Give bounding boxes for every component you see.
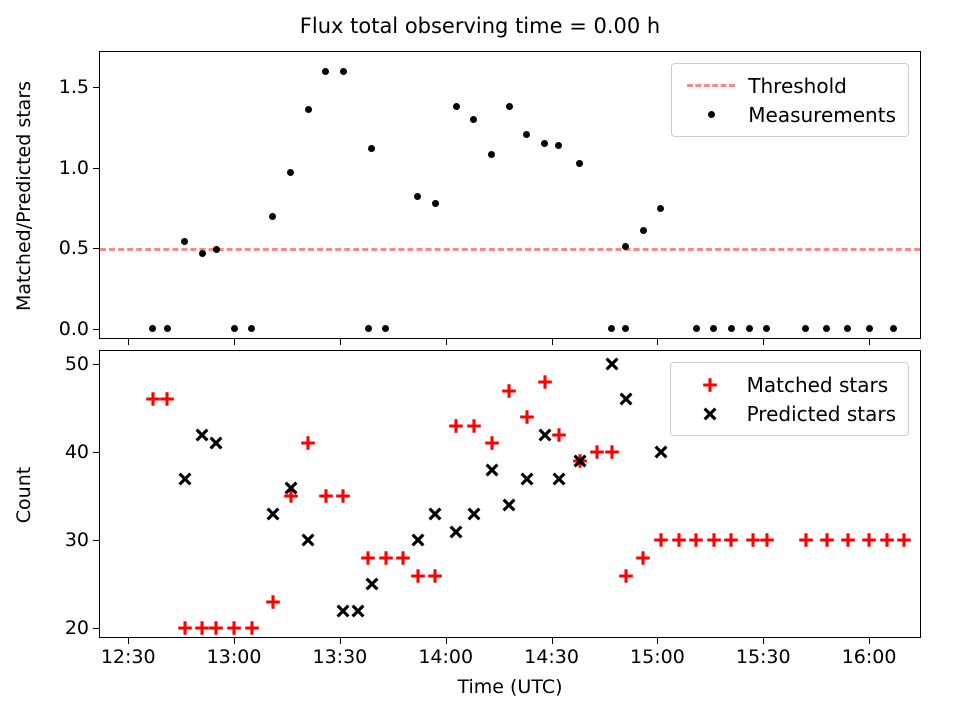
measurement-point — [657, 205, 664, 212]
cross-marker-icon — [681, 405, 739, 423]
x-tick-label: 13:30 — [313, 646, 368, 668]
figure-title: Flux total observing time = 0.00 h — [0, 14, 960, 38]
measurement-point — [555, 142, 562, 149]
measurement-point — [728, 325, 735, 332]
measurement-point — [432, 200, 439, 207]
bottom-legend-label: Matched stars — [739, 373, 889, 397]
threshold-line — [100, 248, 920, 251]
x-tick-mark — [234, 338, 235, 345]
top-legend-label: Threshold — [740, 74, 847, 98]
matched-star-point — [670, 531, 688, 549]
bottom-panel-axes: Matched starsPredicted stars 2030405012:… — [99, 350, 921, 638]
matched-star-point — [617, 567, 635, 585]
matched-star-point — [705, 531, 723, 549]
y-axis-label: Matched/Predicted stars — [13, 81, 35, 311]
predicted-star-point — [500, 496, 518, 514]
predicted-star-point — [617, 390, 635, 408]
measurement-point — [382, 325, 389, 332]
measurement-point — [523, 131, 530, 138]
matched-star-point — [895, 531, 913, 549]
x-tick-mark — [869, 338, 870, 345]
predicted-star-point — [282, 479, 300, 497]
y-tick-mark — [93, 364, 100, 365]
predicted-star-point — [536, 426, 554, 444]
measurement-point — [231, 325, 238, 332]
measurement-point — [340, 68, 347, 75]
measurement-point — [844, 325, 851, 332]
predicted-star-point — [550, 470, 568, 488]
matched-star-point — [158, 390, 176, 408]
predicted-star-point — [483, 461, 501, 479]
measurement-point — [488, 151, 495, 158]
bottom-legend-label: Predicted stars — [739, 402, 896, 426]
matched-star-point — [652, 531, 670, 549]
measurement-point — [269, 213, 276, 220]
measurement-point — [414, 193, 421, 200]
predicted-star-point — [603, 355, 621, 373]
matched-star-point — [426, 567, 444, 585]
x-axis-label: Time (UTC) — [99, 676, 921, 698]
measurement-point — [453, 103, 460, 110]
measurement-point — [763, 325, 770, 332]
measurement-point — [287, 169, 294, 176]
matched-star-point — [394, 549, 412, 567]
y-tick-mark — [93, 248, 100, 249]
measurement-point — [823, 325, 830, 332]
matched-star-point — [176, 619, 194, 637]
matched-star-point — [500, 382, 518, 400]
y-tick-mark — [93, 168, 100, 169]
measurement-point — [199, 250, 206, 257]
y-tick-label: 20 — [65, 617, 89, 639]
matched-star-point — [758, 531, 776, 549]
x-tick-label: 14:30 — [524, 646, 579, 668]
x-tick-mark — [552, 637, 553, 644]
top-legend-label: Measurements — [740, 103, 896, 127]
measurement-point — [506, 103, 513, 110]
measurement-point — [710, 325, 717, 332]
x-tick-label: 14:00 — [418, 646, 473, 668]
predicted-star-point — [571, 452, 589, 470]
matched-star-point — [818, 531, 836, 549]
predicted-star-point — [447, 523, 465, 541]
measurement-point — [248, 325, 255, 332]
measurement-point — [149, 325, 156, 332]
measurement-point — [213, 246, 220, 253]
y-tick-mark — [93, 329, 100, 330]
predicted-star-point — [363, 575, 381, 593]
x-tick-mark — [446, 338, 447, 345]
y-tick-label: 50 — [65, 353, 89, 375]
bottom-panel-legend: Matched starsPredicted stars — [670, 362, 909, 436]
measurement-point — [608, 325, 615, 332]
measurement-point — [693, 325, 700, 332]
measurement-point — [802, 325, 809, 332]
x-tick-label: 15:30 — [736, 646, 791, 668]
measurement-point — [181, 238, 188, 245]
x-tick-mark — [340, 338, 341, 345]
y-tick-mark — [93, 540, 100, 541]
top-panel-axes: ThresholdMeasurements 0.00.51.01.5Matche… — [99, 51, 921, 339]
dot-marker-icon — [682, 111, 740, 118]
x-tick-mark — [763, 637, 764, 644]
matched-star-point — [687, 531, 705, 549]
predicted-star-point — [409, 531, 427, 549]
matched-star-point — [207, 619, 225, 637]
x-tick-mark — [128, 338, 129, 345]
matched-star-point — [483, 434, 501, 452]
x-tick-label: 15:00 — [630, 646, 685, 668]
matched-star-point — [797, 531, 815, 549]
predicted-star-point — [349, 602, 367, 620]
y-tick-label: 1.0 — [59, 157, 89, 179]
measurement-point — [368, 145, 375, 152]
x-tick-mark — [869, 637, 870, 644]
measurement-point — [322, 68, 329, 75]
y-tick-mark — [93, 87, 100, 88]
matched-star-point — [634, 549, 652, 567]
y-tick-label: 30 — [65, 529, 89, 551]
y-tick-label: 40 — [65, 441, 89, 463]
measurement-point — [890, 325, 897, 332]
predicted-star-point — [465, 505, 483, 523]
matched-star-point — [264, 593, 282, 611]
measurement-point — [866, 325, 873, 332]
matched-star-point — [334, 487, 352, 505]
x-tick-mark — [234, 637, 235, 644]
y-tick-mark — [93, 628, 100, 629]
y-tick-label: 0.5 — [59, 237, 89, 259]
y-tick-label: 1.5 — [59, 76, 89, 98]
matched-star-point — [860, 531, 878, 549]
top-legend-entry: Measurements — [682, 100, 896, 129]
measurement-point — [305, 106, 312, 113]
predicted-star-point — [264, 505, 282, 523]
x-tick-mark — [340, 637, 341, 644]
matched-star-point — [465, 417, 483, 435]
matched-star-point — [839, 531, 857, 549]
y-tick-label: 0.0 — [59, 318, 89, 340]
measurement-point — [640, 227, 647, 234]
top-legend-entry: Threshold — [682, 71, 896, 100]
matched-star-point — [225, 619, 243, 637]
matched-star-point — [317, 487, 335, 505]
threshold-line-swatch-icon — [682, 84, 740, 87]
matched-star-point — [603, 443, 621, 461]
measurement-point — [470, 116, 477, 123]
x-tick-mark — [763, 338, 764, 345]
y-tick-mark — [93, 452, 100, 453]
bottom-legend-entry: Matched stars — [681, 370, 896, 399]
matched-star-point — [536, 373, 554, 391]
x-tick-label: 16:00 — [842, 646, 897, 668]
x-tick-mark — [128, 637, 129, 644]
measurement-point — [164, 325, 171, 332]
matched-star-point — [722, 531, 740, 549]
x-tick-label: 12:30 — [101, 646, 156, 668]
matched-star-point — [299, 434, 317, 452]
matched-star-point — [447, 417, 465, 435]
y-axis-label: Count — [13, 467, 35, 523]
measurement-point — [541, 140, 548, 147]
bottom-legend-entry: Predicted stars — [681, 399, 896, 428]
matched-star-point — [359, 549, 377, 567]
predicted-star-point — [652, 443, 670, 461]
matched-star-point — [409, 567, 427, 585]
measurement-point — [576, 160, 583, 167]
plus-marker-icon — [681, 376, 739, 394]
predicted-star-point — [299, 531, 317, 549]
x-tick-label: 13:00 — [207, 646, 262, 668]
measurement-point — [622, 325, 629, 332]
x-tick-mark — [446, 637, 447, 644]
measurement-point — [365, 325, 372, 332]
predicted-star-point — [426, 505, 444, 523]
predicted-star-point — [207, 434, 225, 452]
x-tick-mark — [552, 338, 553, 345]
top-panel-legend: ThresholdMeasurements — [671, 63, 909, 137]
matched-star-point — [377, 549, 395, 567]
predicted-star-point — [176, 470, 194, 488]
x-tick-mark — [657, 637, 658, 644]
figure-canvas: Flux total observing time = 0.00 h Thres… — [0, 0, 960, 720]
predicted-star-point — [518, 470, 536, 488]
measurement-point — [746, 325, 753, 332]
matched-star-point — [878, 531, 896, 549]
matched-star-point — [518, 408, 536, 426]
x-tick-mark — [657, 338, 658, 345]
matched-star-point — [243, 619, 261, 637]
